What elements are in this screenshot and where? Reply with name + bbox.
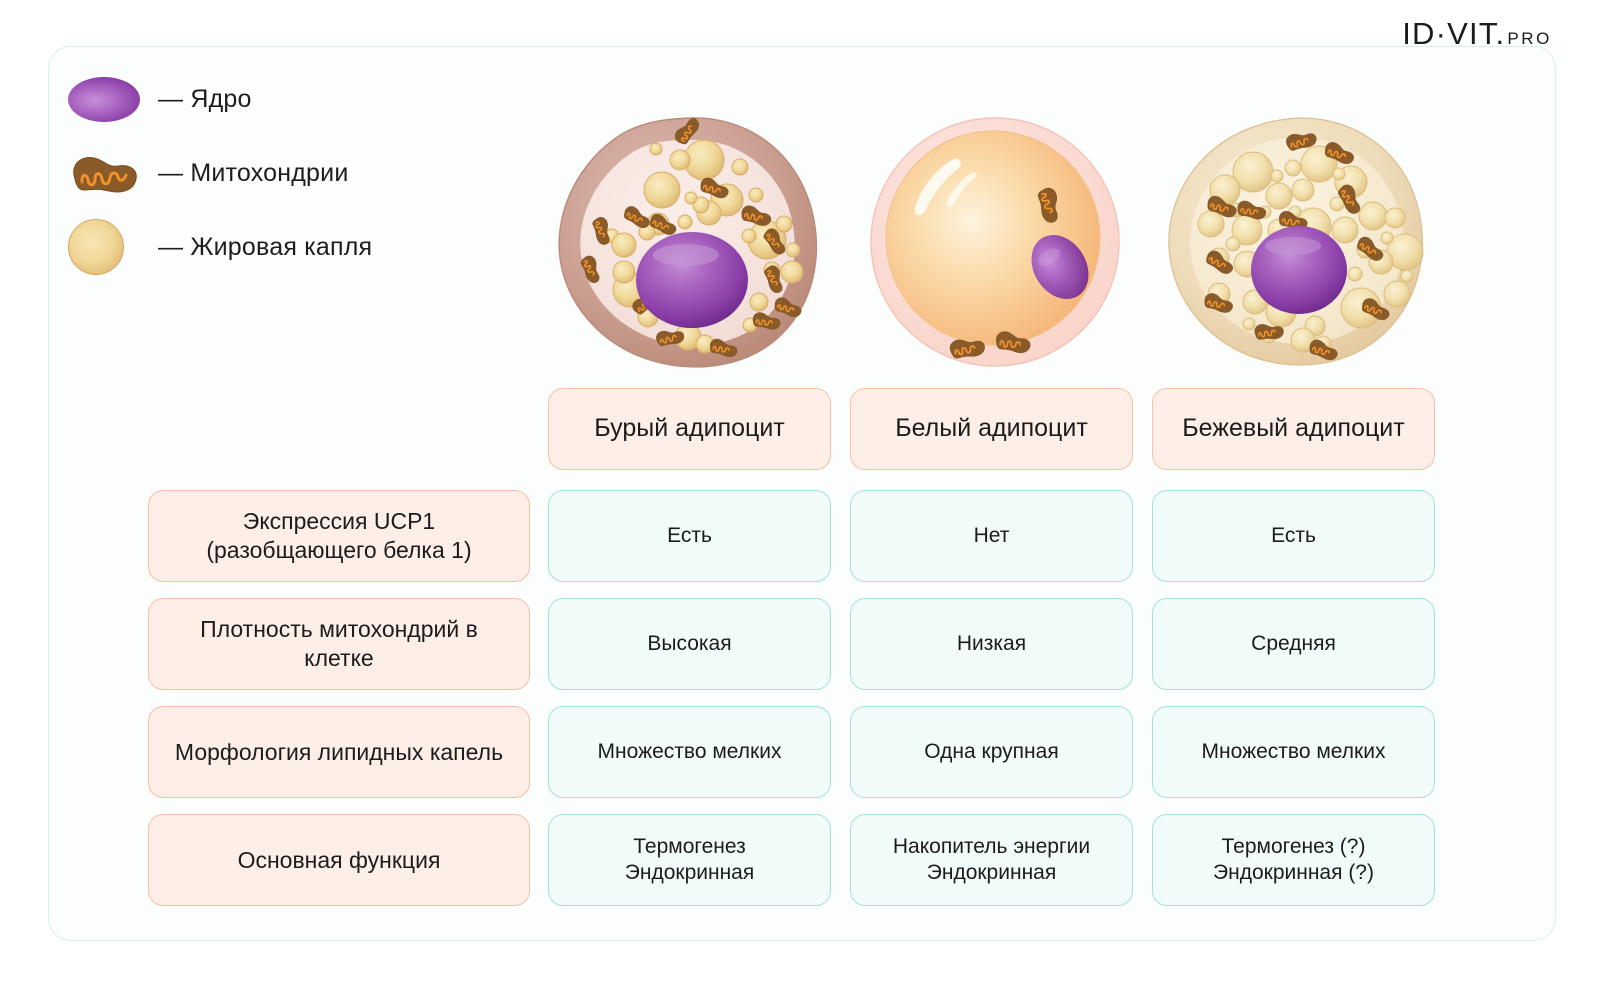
cell-lipid-morphology-beige: Множество мелких <box>1152 706 1435 798</box>
logo-dot-separator: · <box>1436 16 1448 51</box>
row-label-lipid-morphology-text: Морфология липидных капель <box>175 738 503 767</box>
cell-main-function-beige: Термогенез (?) Эндокринная (?) <box>1152 814 1435 906</box>
legend-dash-mitochondria: — <box>158 159 183 187</box>
row-label-ucp1: Экспрессия UCP1 (разобщающего белка 1) <box>148 490 530 582</box>
column-header-white-label: Белый адипоцит <box>895 413 1088 444</box>
column-header-white: Белый адипоцит <box>850 388 1133 470</box>
cell-mito-density-brown-text: Высокая <box>647 631 731 657</box>
legend-label-lipid-droplet: — Жировая капля <box>158 233 372 262</box>
mitochondria-icon <box>68 142 158 204</box>
cell-ucp1-white: Нет <box>850 490 1133 582</box>
cell-main-function-white-line1: Накопитель энергии <box>893 834 1090 860</box>
cell-ucp1-brown-text: Есть <box>667 523 712 549</box>
brand-logo: ID·VIT. PRO <box>1402 18 1552 49</box>
cell-ucp1-beige-text: Есть <box>1271 523 1316 549</box>
column-header-beige-label: Бежевый адипоцит <box>1182 413 1404 444</box>
legend-item-mitochondria: — Митохондрии <box>68 136 488 210</box>
cell-ucp1-brown: Есть <box>548 490 831 582</box>
legend-label-mitochondria: — Митохондрии <box>158 159 349 188</box>
mitochondria-glyph <box>68 150 140 196</box>
row-label-mito-density-text: Плотность митохондрий в клетке <box>163 615 515 673</box>
cell-main-function-beige-text: Термогенез (?) Эндокринная (?) <box>1213 834 1374 887</box>
row-label-lipid-morphology-line2: капель <box>430 739 503 765</box>
row-label-lipid-morphology: Морфология липидных капель <box>148 706 530 798</box>
legend-dash-lipid: — <box>158 233 183 261</box>
cell-main-function-beige-line2: Эндокринная (?) <box>1213 860 1374 886</box>
cell-mito-density-white-text: Низкая <box>957 631 1026 657</box>
cell-mito-density-beige: Средняя <box>1152 598 1435 690</box>
logo-period: . <box>1496 16 1506 51</box>
cell-main-function-white: Накопитель энергии Эндокринная <box>850 814 1133 906</box>
legend-item-lipid-droplet: — Жировая капля <box>68 210 488 284</box>
cell-mito-density-beige-text: Средняя <box>1251 631 1336 657</box>
infographic-root: ID·VIT. PRO — Ядро — Митохондрии <box>0 0 1600 1000</box>
lipid-droplet-icon <box>68 216 158 278</box>
brown-adipocyte-illustration <box>552 112 828 374</box>
nucleus-icon <box>68 68 158 130</box>
cell-main-function-brown-text: Термогенез Эндокринная <box>625 834 754 887</box>
cell-lipid-morphology-white-text: Одна крупная <box>924 739 1058 765</box>
cell-main-function-white-text: Накопитель энергии Эндокринная <box>893 834 1090 887</box>
row-label-main-function-text: Основная функция <box>238 846 441 875</box>
row-label-ucp1-text: Экспрессия UCP1 (разобщающего белка 1) <box>163 507 515 565</box>
beige-adipocyte-illustration <box>1159 112 1435 374</box>
legend-dash-nucleus: — <box>158 85 183 113</box>
column-header-beige: Бежевый адипоцит <box>1152 388 1435 470</box>
cell-main-function-white-line2: Эндокринная <box>893 860 1090 886</box>
cell-ucp1-white-text: Нет <box>974 523 1010 549</box>
legend-text-nucleus: Ядро <box>190 85 251 113</box>
row-label-mito-density-line1: Плотность митохондрий <box>200 616 459 642</box>
column-header-brown-label: Бурый адипоцит <box>594 413 785 444</box>
column-header-brown: Бурый адипоцит <box>548 388 831 470</box>
cell-mito-density-white: Низкая <box>850 598 1133 690</box>
cell-lipid-morphology-white: Одна крупная <box>850 706 1133 798</box>
row-label-lipid-morphology-line1: Морфология липидных <box>175 739 424 765</box>
row-label-mito-density: Плотность митохондрий в клетке <box>148 598 530 690</box>
legend-text-mitochondria: Митохондрии <box>190 159 348 187</box>
cell-main-function-brown: Термогенез Эндокринная <box>548 814 831 906</box>
cell-lipid-morphology-beige-text: Множество мелких <box>1202 739 1386 765</box>
logo-id-text: ID <box>1402 16 1435 51</box>
logo-wordmark: ID·VIT. <box>1402 18 1505 49</box>
white-adipocyte-illustration <box>857 112 1133 374</box>
cell-mito-density-brown: Высокая <box>548 598 831 690</box>
logo-vit-text: VIT <box>1447 16 1495 51</box>
legend-label-nucleus: — Ядро <box>158 85 252 114</box>
row-label-main-function: Основная функция <box>148 814 530 906</box>
logo-pro-text: PRO <box>1507 30 1552 47</box>
cell-lipid-morphology-brown: Множество мелких <box>548 706 831 798</box>
legend-text-lipid: Жировая капля <box>190 233 372 261</box>
cell-lipid-morphology-brown-text: Множество мелких <box>598 739 782 765</box>
row-label-ucp1-line1: Экспрессия UCP1 <box>243 508 435 534</box>
cell-ucp1-beige: Есть <box>1152 490 1435 582</box>
cell-main-function-brown-line1: Термогенез <box>625 834 754 860</box>
cell-main-function-brown-line2: Эндокринная <box>625 860 754 886</box>
legend-item-nucleus: — Ядро <box>68 62 488 136</box>
cell-main-function-beige-line1: Термогенез (?) <box>1213 834 1374 860</box>
legend: — Ядро — Митохондрии — Жировая ка <box>68 62 488 284</box>
row-label-ucp1-line2: (разобщающего белка 1) <box>206 537 471 563</box>
